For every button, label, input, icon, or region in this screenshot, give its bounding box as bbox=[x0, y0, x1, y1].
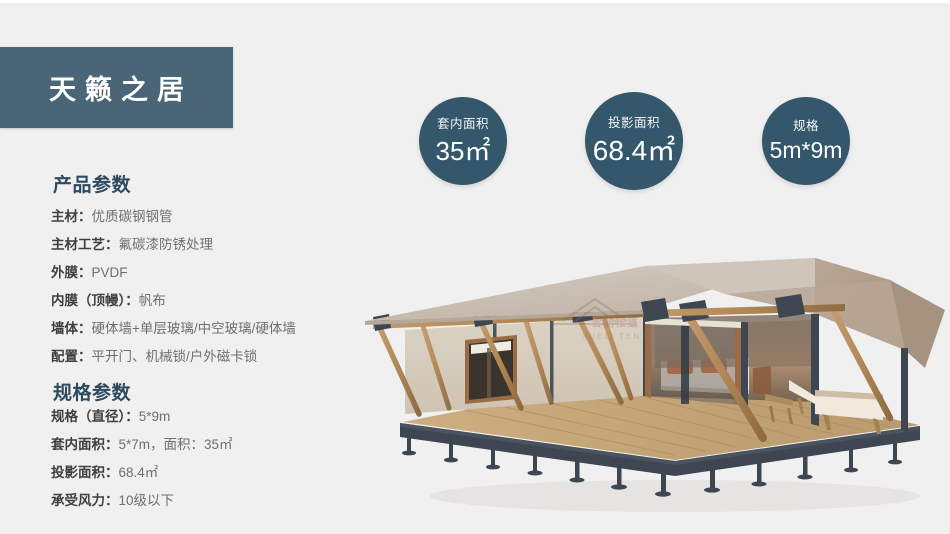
param-label: 主材工艺： bbox=[51, 237, 119, 252]
product-section-heading: 产品参数 bbox=[53, 170, 131, 197]
param-value: 5*7m，面积：35㎡ bbox=[119, 437, 233, 452]
param-label: 承受风力： bbox=[51, 493, 119, 508]
badge-label: 规格 bbox=[793, 120, 819, 133]
spec-section-heading: 规格参数 bbox=[53, 378, 131, 405]
param-label: 套内面积： bbox=[51, 437, 119, 452]
spec-parameter-list: 规格（直径）：5*9m 套内面积：5*7m，面积：35㎡ 投影面积：68.4㎡ … bbox=[51, 403, 233, 515]
param-label: 内膜（顶幔）： bbox=[51, 293, 139, 308]
param-label: 外膜： bbox=[51, 265, 92, 280]
safari-tent-render: 雪丽帐篷 XUELI TENT bbox=[345, 218, 950, 523]
param-label: 规格（直径）： bbox=[51, 409, 139, 424]
param-value: 10级以下 bbox=[119, 493, 175, 508]
badge-label: 套内面积 bbox=[437, 118, 489, 131]
badge-value: 5m*9m bbox=[770, 139, 843, 162]
param-value: 帆布 bbox=[139, 293, 166, 308]
param-value: 氟碳漆防锈处理 bbox=[119, 237, 214, 252]
badge-indoor-area: 套内面积 35㎡ bbox=[419, 97, 507, 185]
param-label: 投影面积： bbox=[51, 465, 119, 480]
fabric-wall-left bbox=[405, 311, 643, 414]
list-item: 内膜（顶幔）：帆布 bbox=[51, 287, 296, 315]
param-value: 68.4㎡ bbox=[119, 465, 159, 480]
list-item: 主材：优质碳钢钢管 bbox=[51, 203, 296, 231]
badge-value: 68.4㎡ bbox=[593, 137, 676, 165]
list-item: 承受风力：10级以下 bbox=[51, 487, 233, 515]
page-title: 天籁之居 bbox=[40, 68, 193, 107]
list-item: 投影面积：68.4㎡ bbox=[51, 459, 233, 487]
param-label: 墙体： bbox=[51, 321, 92, 336]
param-value: 平开门、机械锁/户外磁卡锁 bbox=[92, 349, 258, 364]
param-value: 5*9m bbox=[139, 409, 171, 424]
list-item: 规格（直径）：5*9m bbox=[51, 403, 233, 431]
badge-dimensions: 规格 5m*9m bbox=[762, 97, 850, 185]
glass-sliding-doors bbox=[643, 316, 741, 405]
badge-value: 35㎡ bbox=[436, 138, 491, 164]
badge-projected-area: 投影面积 68.4㎡ bbox=[585, 92, 683, 190]
list-item: 配置：平开门、机械锁/户外磁卡锁 bbox=[51, 343, 296, 371]
badge-label: 投影面积 bbox=[608, 117, 660, 130]
param-label: 主材： bbox=[51, 209, 92, 224]
param-label: 配置： bbox=[51, 349, 92, 364]
list-item: 墙体：硬体墙+单层玻璃/中空玻璃/硬体墙 bbox=[51, 315, 296, 343]
list-item: 外膜：PVDF bbox=[51, 259, 296, 287]
ground-shadow bbox=[430, 480, 920, 512]
list-item: 套内面积：5*7m，面积：35㎡ bbox=[51, 431, 233, 459]
list-item: 主材工艺：氟碳漆防锈处理 bbox=[51, 231, 296, 259]
param-value: 优质碳钢钢管 bbox=[92, 209, 173, 224]
product-spec-page: 天籁之居 产品参数 主材：优质碳钢钢管 主材工艺：氟碳漆防锈处理 外膜：PVDF… bbox=[0, 0, 950, 534]
title-banner: 天籁之居 bbox=[0, 47, 233, 128]
product-parameter-list: 主材：优质碳钢钢管 主材工艺：氟碳漆防锈处理 外膜：PVDF 内膜（顶幔）：帆布… bbox=[51, 203, 296, 371]
param-value: 硬体墙+单层玻璃/中空玻璃/硬体墙 bbox=[92, 321, 296, 336]
param-value: PVDF bbox=[92, 265, 128, 280]
